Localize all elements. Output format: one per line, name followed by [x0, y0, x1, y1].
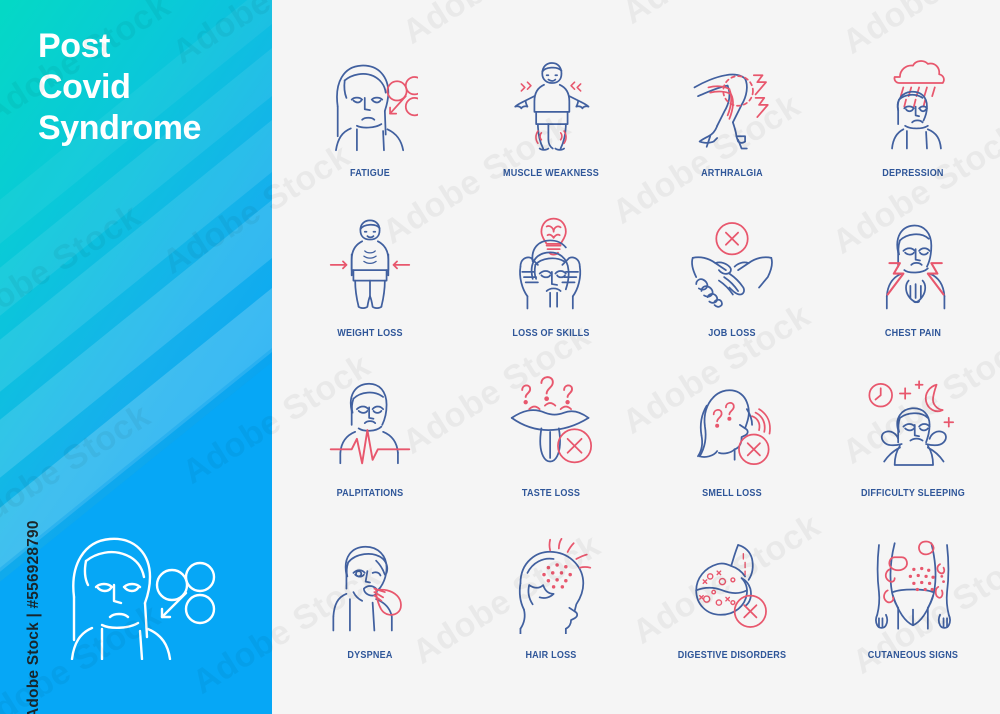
icon-cell-fatigue[interactable]: FATIGUE [279, 45, 461, 179]
icon-label: PALPITATIONS [292, 487, 449, 499]
icon-cell-difficulty-sleeping[interactable]: DIFFICULTY SLEEPING [822, 365, 1000, 499]
knee-pain-icon [641, 45, 823, 163]
page-title: Post Covid Syndrome [38, 26, 268, 149]
icon-cell-hair-loss[interactable]: HAIR LOSS [460, 527, 642, 661]
icon-label: TASTE LOSS [473, 487, 630, 499]
nose-cross-icon [641, 365, 823, 483]
hero-fatigue-woman-icon [52, 525, 222, 660]
icon-cell-digestive-disorders[interactable]: DIGESTIVE DISORDERS [641, 527, 823, 661]
left-title-panel: Post Covid Syndrome Adobe Stock | #55692… [0, 0, 272, 714]
stomach-cross-icon [641, 527, 823, 645]
stock-credit-label: Adobe Stock | #556928790 [25, 459, 43, 714]
icon-cell-smell-loss[interactable]: SMELL LOSS [641, 365, 823, 499]
title-line-3: Syndrome [38, 108, 268, 149]
scalp-dots-icon [460, 527, 642, 645]
icon-label: JOB LOSS [654, 327, 811, 339]
icon-cell-muscle-weakness[interactable]: MUSCLE WEAKNESS [460, 45, 642, 179]
icon-label: CHEST PAIN [835, 327, 992, 339]
icon-label: WEIGHT LOSS [292, 327, 449, 339]
icon-cell-depression[interactable]: DEPRESSION [822, 45, 1000, 179]
title-line-1: Post [38, 26, 268, 67]
poster-canvas: Post Covid Syndrome Adobe Stock | #55692… [0, 0, 1000, 714]
icon-cell-arthralgia[interactable]: ARTHRALGIA [641, 45, 823, 179]
icon-label: LOSS OF SKILLS [473, 327, 630, 339]
icon-cell-palpitations[interactable]: PALPITATIONS [279, 365, 461, 499]
rain-cloud-sad-icon [822, 45, 1000, 163]
icon-cell-job-loss[interactable]: JOB LOSS [641, 205, 823, 339]
icon-label: CUTANEOUS SIGNS [835, 649, 992, 661]
icon-label: HAIR LOSS [473, 649, 630, 661]
breathless-man-icon [279, 527, 461, 645]
icon-label: FATIGUE [292, 167, 449, 179]
icon-label: SMELL LOSS [654, 487, 811, 499]
icon-cell-dyspnea[interactable]: DYSPNEA [279, 527, 461, 661]
icon-label: DEPRESSION [835, 167, 992, 179]
heartbeat-man-icon [279, 365, 461, 483]
icon-cell-cutaneous-signs[interactable]: CUTANEOUS SIGNS [822, 527, 1000, 661]
weak-man-icon [460, 45, 642, 163]
icon-grid: FATIGUE [272, 0, 1000, 714]
icon-label: ARTHRALGIA [654, 167, 811, 179]
title-line-2: Covid [38, 67, 268, 108]
chest-lightning-icon [822, 205, 1000, 323]
icon-label: DIFFICULTY SLEEPING [835, 487, 992, 499]
thin-body-arrows-icon [279, 205, 461, 323]
icon-label: DIGESTIVE DISORDERS [654, 649, 811, 661]
icon-cell-weight-loss[interactable]: WEIGHT LOSS [279, 205, 461, 339]
handshake-cross-icon [641, 205, 823, 323]
icon-label: DYSPNEA [292, 649, 449, 661]
icon-cell-chest-pain[interactable]: CHEST PAIN [822, 205, 1000, 339]
tired-woman-icon [279, 45, 461, 163]
tongue-cross-icon [460, 365, 642, 483]
icon-cell-taste-loss[interactable]: TASTE LOSS [460, 365, 642, 499]
icon-cell-loss-of-skills[interactable]: LOSS OF SKILLS [460, 205, 642, 339]
skin-rash-body-icon [822, 527, 1000, 645]
insomnia-moon-icon [822, 365, 1000, 483]
icon-label: MUSCLE WEAKNESS [473, 167, 630, 179]
head-lightbulb-icon [460, 205, 642, 323]
